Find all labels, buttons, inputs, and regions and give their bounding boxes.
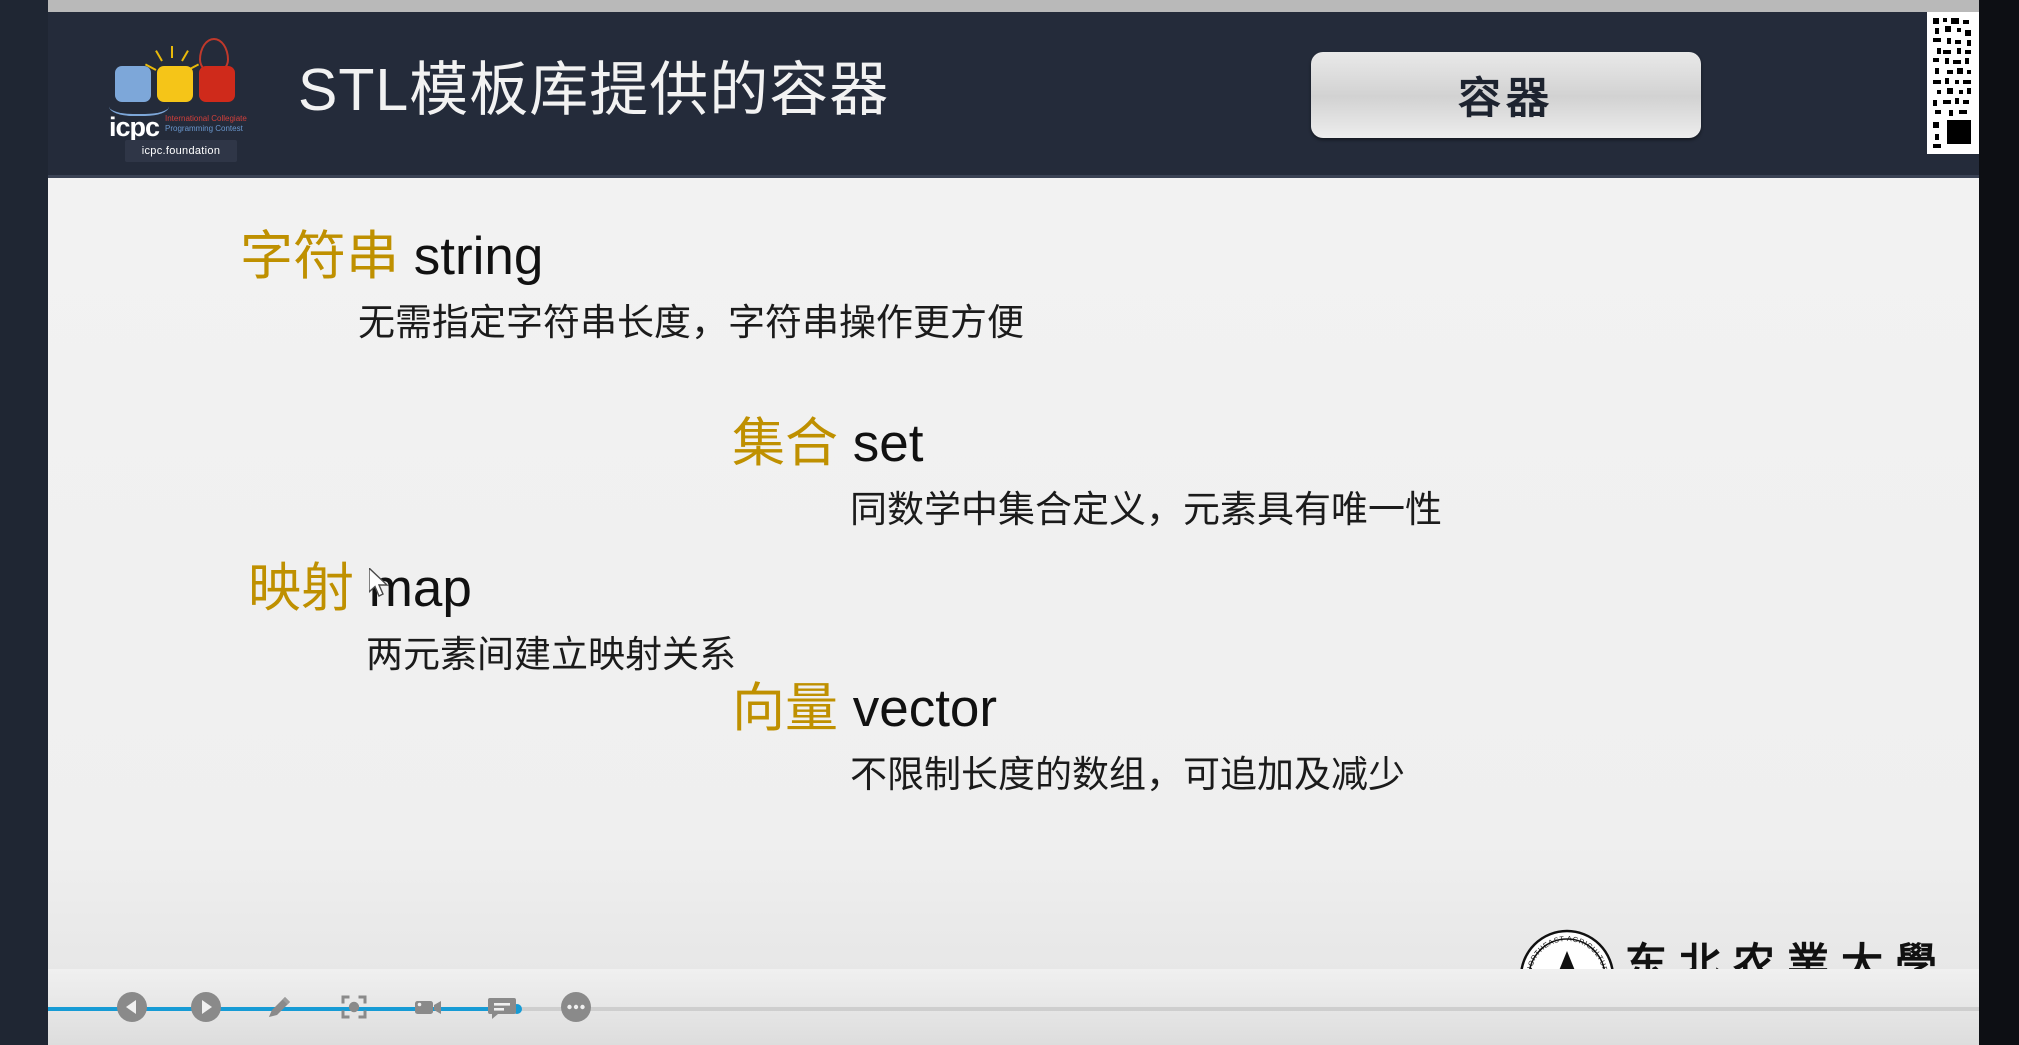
container-entry-vector-cn: 向量 <box>732 679 838 738</box>
pencil-icon <box>263 990 297 1024</box>
container-entry-vector: 向量 vector 不限制长度的数组，可追加及减少 <box>732 678 1405 800</box>
note-button[interactable] <box>480 985 524 1029</box>
slide-canvas: 东北农业大学ACM集训队 icpc <box>48 12 1979 1033</box>
container-entry-vector-en: vector <box>853 679 997 738</box>
container-entry-vector-heading: 向量 vector <box>732 678 1405 740</box>
container-entry-map-heading: 映射 map <box>248 558 736 620</box>
ellipsis-icon <box>559 990 593 1024</box>
icpc-subtitle-line1: International Collegiate <box>165 114 257 124</box>
toolbar-button-group <box>110 969 598 1045</box>
video-player: 东北农业大学ACM集训队 icpc <box>0 0 2019 1045</box>
container-entry-string-cn: 字符串 <box>240 227 399 286</box>
slide-body: 字符串 string 无需指定字符串长度，字符串操作更方便 集合 set 同数学… <box>48 178 1979 1033</box>
section-badge-label: 容器 <box>1458 64 1554 126</box>
section-badge: 容器 <box>1311 52 1701 138</box>
player-toolbar <box>48 969 1979 1045</box>
screenshot-button[interactable] <box>332 985 376 1029</box>
container-entry-set: 集合 set 同数学中集合定义，元素具有唯一性 <box>732 413 1442 535</box>
icpc-subtitle: International Collegiate Programming Con… <box>165 114 257 134</box>
play-next-icon <box>189 990 223 1024</box>
container-entry-string-en: string <box>414 227 544 286</box>
container-entry-set-desc: 同数学中集合定义，元素具有唯一性 <box>850 485 1442 535</box>
balloon-tile-icon <box>199 66 235 102</box>
slide-header: icpc International Collegiate Programmin… <box>48 12 1979 178</box>
right-letterbox-rail <box>1979 0 2019 1045</box>
container-entry-set-heading: 集合 set <box>732 413 1442 475</box>
icpc-subtitle-line2: Programming Contest <box>165 124 257 134</box>
container-entry-map-desc: 两元素间建立映射关系 <box>366 630 736 680</box>
page-title: STL模板库提供的容器 <box>298 52 889 128</box>
left-letterbox-rail <box>0 0 48 1045</box>
screenshot-icon <box>337 990 371 1024</box>
container-entry-string: 字符串 string 无需指定字符串长度，字符串操作更方便 <box>240 226 1024 348</box>
video-camera-icon <box>411 990 445 1024</box>
container-entry-map-en: map <box>369 559 472 618</box>
container-entry-map: 映射 map 两元素间建立映射关系 <box>248 558 736 680</box>
container-entry-vector-desc: 不限制长度的数组，可追加及减少 <box>850 750 1405 800</box>
icpc-logo: icpc International Collegiate Programmin… <box>103 34 263 166</box>
qr-code-icon <box>1927 12 1979 154</box>
annotate-button[interactable] <box>258 985 302 1029</box>
container-entry-map-cn: 映射 <box>248 559 354 618</box>
container-entry-set-cn: 集合 <box>732 414 838 473</box>
more-button[interactable] <box>554 985 598 1029</box>
next-slide-button[interactable] <box>184 985 228 1029</box>
previous-slide-button[interactable] <box>110 985 154 1029</box>
comment-icon <box>485 990 519 1024</box>
container-entry-string-desc: 无需指定字符串长度，字符串操作更方便 <box>358 298 1024 348</box>
container-entry-string-heading: 字符串 string <box>240 226 1024 288</box>
container-entry-set-en: set <box>853 414 924 473</box>
icpc-foundation-badge: icpc.foundation <box>125 140 237 162</box>
previous-slide-icon <box>115 990 149 1024</box>
record-button[interactable] <box>406 985 450 1029</box>
icpc-wordmark: icpc <box>109 112 159 143</box>
